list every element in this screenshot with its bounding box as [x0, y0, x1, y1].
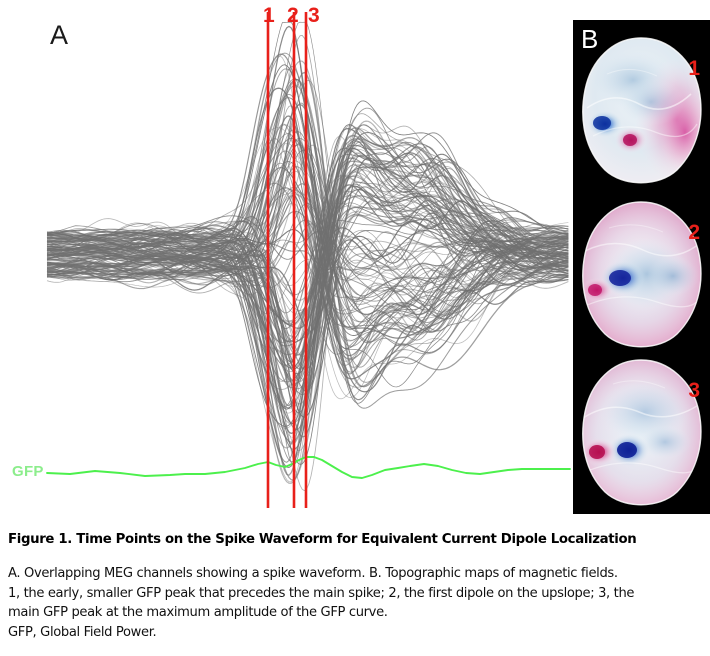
time-point-label-2: 2 — [287, 5, 299, 26]
time-point-label-3: 3 — [308, 5, 320, 26]
topo-map-2-label: 2 — [688, 222, 700, 243]
figure-image: A 1 2 3 GFP B — [0, 0, 710, 516]
topo-map-1: 1 — [573, 28, 710, 192]
topo-map-1-label: 1 — [688, 58, 700, 79]
caption-line-4: GFP, Global Field Power. — [8, 623, 706, 643]
topo-map-3-field — [573, 350, 710, 514]
panel-b-topographic-maps: B — [573, 20, 710, 514]
caption-title: Figure 1. Time Points on the Spike Wavef… — [8, 532, 702, 547]
gfp-series-label: GFP — [12, 463, 44, 480]
caption-line-1: A. Overlapping MEG channels showing a sp… — [8, 564, 706, 584]
figure-caption: Figure 1. Time Points on the Spike Wavef… — [0, 516, 710, 656]
caption-line-3: main GFP peak at the maximum amplitude o… — [8, 603, 706, 623]
topo-map-1-field — [573, 28, 710, 192]
time-point-label-1: 1 — [263, 5, 275, 26]
topo-map-2: 2 — [573, 192, 710, 356]
topo-map-3-label: 3 — [688, 380, 700, 401]
meg-channel-trace — [47, 22, 568, 329]
caption-line-2: 1, the early, smaller GFP peak that prec… — [8, 584, 706, 604]
meg-channel-traces — [47, 22, 568, 490]
gfp-curve — [47, 457, 570, 478]
caption-body: A. Overlapping MEG channels showing a sp… — [8, 564, 706, 642]
topo-map-2-field — [573, 192, 710, 356]
figure-page: A 1 2 3 GFP B — [0, 0, 710, 656]
topo-map-3: 3 — [573, 350, 710, 514]
